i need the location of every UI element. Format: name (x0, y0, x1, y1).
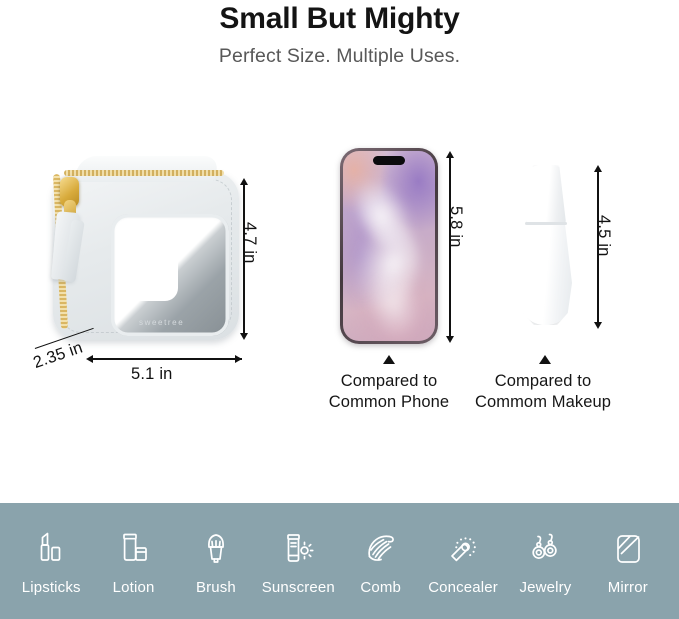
icon-label: Jewelry (519, 579, 571, 596)
phone-frame (340, 148, 438, 344)
makeup-brush-icon (193, 526, 239, 572)
bottle-figure: 4.5 in Compared to Commom Makeup (500, 143, 660, 443)
icon-cell-lotion: Lotion (92, 526, 174, 596)
product-showcase: sweetree 4.7 in 5.1 in 2.35 in (0, 95, 679, 495)
icon-label: Lipsticks (22, 579, 81, 596)
dim-label-width: 5.1 in (131, 365, 173, 384)
icon-label: Comb (360, 579, 401, 596)
icon-label: Lotion (113, 579, 155, 596)
comb-icon (358, 526, 404, 572)
compare-caption-bottle: Compared to Commom Makeup (472, 371, 614, 413)
phone-screen (343, 151, 436, 342)
icon-cell-sunscreen: Sunscreen (257, 526, 339, 596)
zipper-track-top (64, 170, 224, 176)
icon-cell-jewelry: Jewelry (504, 526, 586, 596)
icon-cell-comb: Comb (340, 526, 422, 596)
icon-cell-lipsticks: Lipsticks (10, 526, 92, 596)
dim-label-depth: 2.35 in (31, 338, 85, 373)
page-subtitle: Perfect Size. Multiple Uses. (0, 36, 679, 68)
icon-label: Concealer (428, 579, 498, 596)
icon-cell-mirror: Mirror (587, 526, 669, 596)
bag-body: sweetree (53, 172, 239, 340)
dim-line-width (92, 358, 242, 359)
compare-caption-phone: Compared to Common Phone (318, 371, 460, 413)
sunscreen-icon (275, 526, 321, 572)
mirror-icon (605, 526, 651, 572)
icon-label: Sunscreen (262, 579, 335, 596)
bag-lid (74, 156, 220, 182)
earrings-icon (522, 526, 568, 572)
lotion-tube-icon (111, 526, 157, 572)
concealer-wand-icon (440, 526, 486, 572)
bottle-neck-seam (525, 222, 567, 225)
bag-window-gloss (116, 219, 178, 301)
icon-label: Brush (196, 579, 236, 596)
dynamic-island-notch (373, 156, 405, 166)
bag-brand-emboss: sweetree (139, 318, 184, 327)
lipstick-icon (28, 526, 74, 572)
dim-arrow-down-phone (446, 336, 454, 343)
page-title: Small But Mighty (0, 0, 679, 36)
dim-label-height: 4.7 in (240, 222, 259, 264)
makeup-bottle (514, 165, 576, 325)
compare-marker-bottle (539, 355, 551, 364)
bag-figure: sweetree 4.7 in 5.1 in 2.35 in (30, 150, 270, 410)
compare-marker-phone (383, 355, 395, 364)
bottle-cap (526, 165, 566, 223)
icon-cell-concealer: Concealer (422, 526, 504, 596)
dim-arrow-down-height (240, 333, 248, 340)
dim-arrow-right-width (235, 355, 242, 363)
icon-cell-brush: Brush (175, 526, 257, 596)
icon-label: Mirror (608, 579, 648, 596)
header: Small But Mighty Perfect Size. Multiple … (0, 0, 679, 68)
bottle-body (519, 225, 572, 325)
use-case-icon-bar: Lipsticks Lotion Brush (0, 503, 679, 619)
dim-label-bottle-height: 4.5 in (594, 215, 613, 257)
dim-arrow-down-bottle (594, 322, 602, 329)
dim-label-phone-height: 5.8 in (446, 206, 465, 248)
